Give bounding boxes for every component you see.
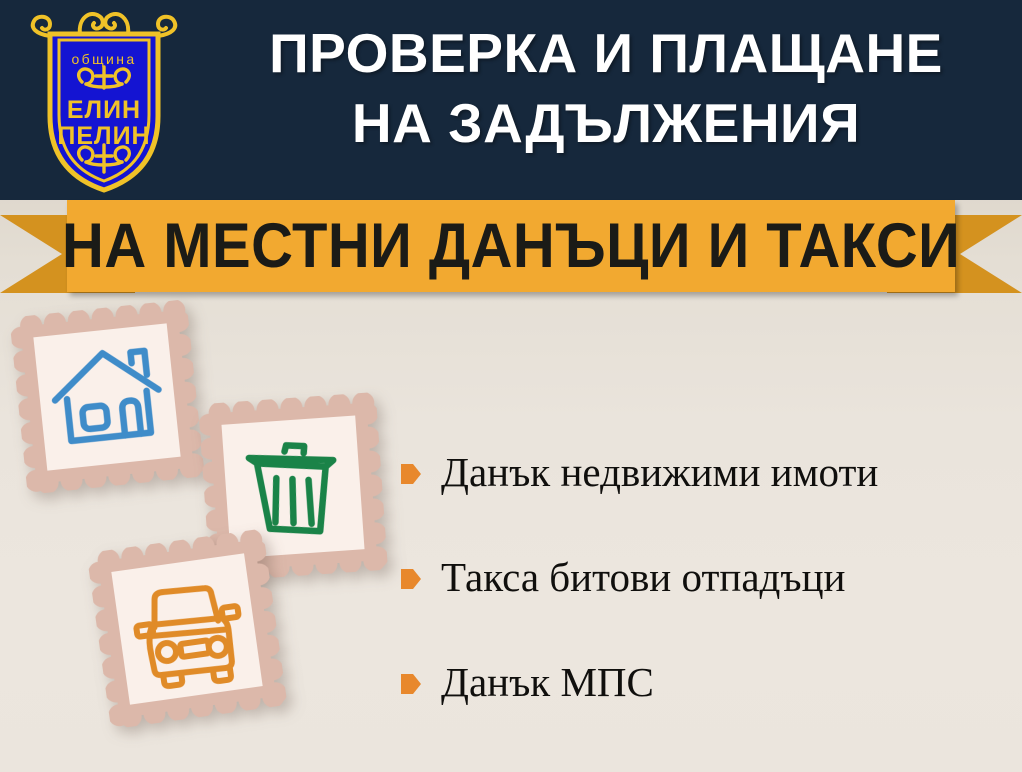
svg-text:община: община bbox=[71, 51, 136, 67]
svg-text:ЕЛИН: ЕЛИН bbox=[67, 96, 141, 124]
ribbon-label: НА МЕСТНИ ДАНЪЦИ И ТАКСИ bbox=[62, 215, 960, 278]
page-title-line-2: НА ЗАДЪЛЖЕНИЯ bbox=[190, 88, 1022, 158]
municipality-crest-icon: община ЕЛИН ПЕЛИН bbox=[18, 4, 190, 196]
list-item-label: Такса битови отпадъци bbox=[441, 556, 845, 599]
header-bar: община ЕЛИН ПЕЛИН bbox=[0, 0, 1022, 200]
stamp-card-property bbox=[9, 299, 205, 495]
poster-canvas: община ЕЛИН ПЕЛИН bbox=[0, 0, 1022, 772]
list-item-label: Данък МПС bbox=[441, 661, 654, 704]
house-icon bbox=[37, 327, 178, 468]
page-title-line-1: ПРОВЕРКА И ПЛАЩАНЕ bbox=[190, 18, 1022, 88]
ribbon-body: НА МЕСТНИ ДАНЪЦИ И ТАКСИ bbox=[67, 200, 955, 292]
stamp-card-vehicle bbox=[86, 528, 287, 729]
arrow-bullet-icon bbox=[400, 566, 422, 592]
list-item[interactable]: Данък МПС bbox=[400, 630, 1022, 735]
car-front-icon bbox=[115, 557, 260, 702]
page-title: ПРОВЕРКА И ПЛАЩАНЕ НА ЗАДЪЛЖЕНИЯ bbox=[190, 18, 1022, 159]
arrow-bullet-icon bbox=[400, 671, 422, 697]
subtitle-ribbon: НА МЕСТНИ ДАНЪЦИ И ТАКСИ bbox=[0, 200, 1022, 300]
list-item[interactable]: Такса битови отпадъци bbox=[400, 525, 1022, 630]
arrow-bullet-icon bbox=[400, 461, 422, 487]
stamp-card-group bbox=[0, 300, 400, 772]
list-item-label: Данък недвижими имоти bbox=[441, 451, 878, 494]
tax-type-list: Данък недвижими имоти Такса битови отпад… bbox=[400, 420, 1022, 735]
list-item[interactable]: Данък недвижими имоти bbox=[400, 420, 1022, 525]
